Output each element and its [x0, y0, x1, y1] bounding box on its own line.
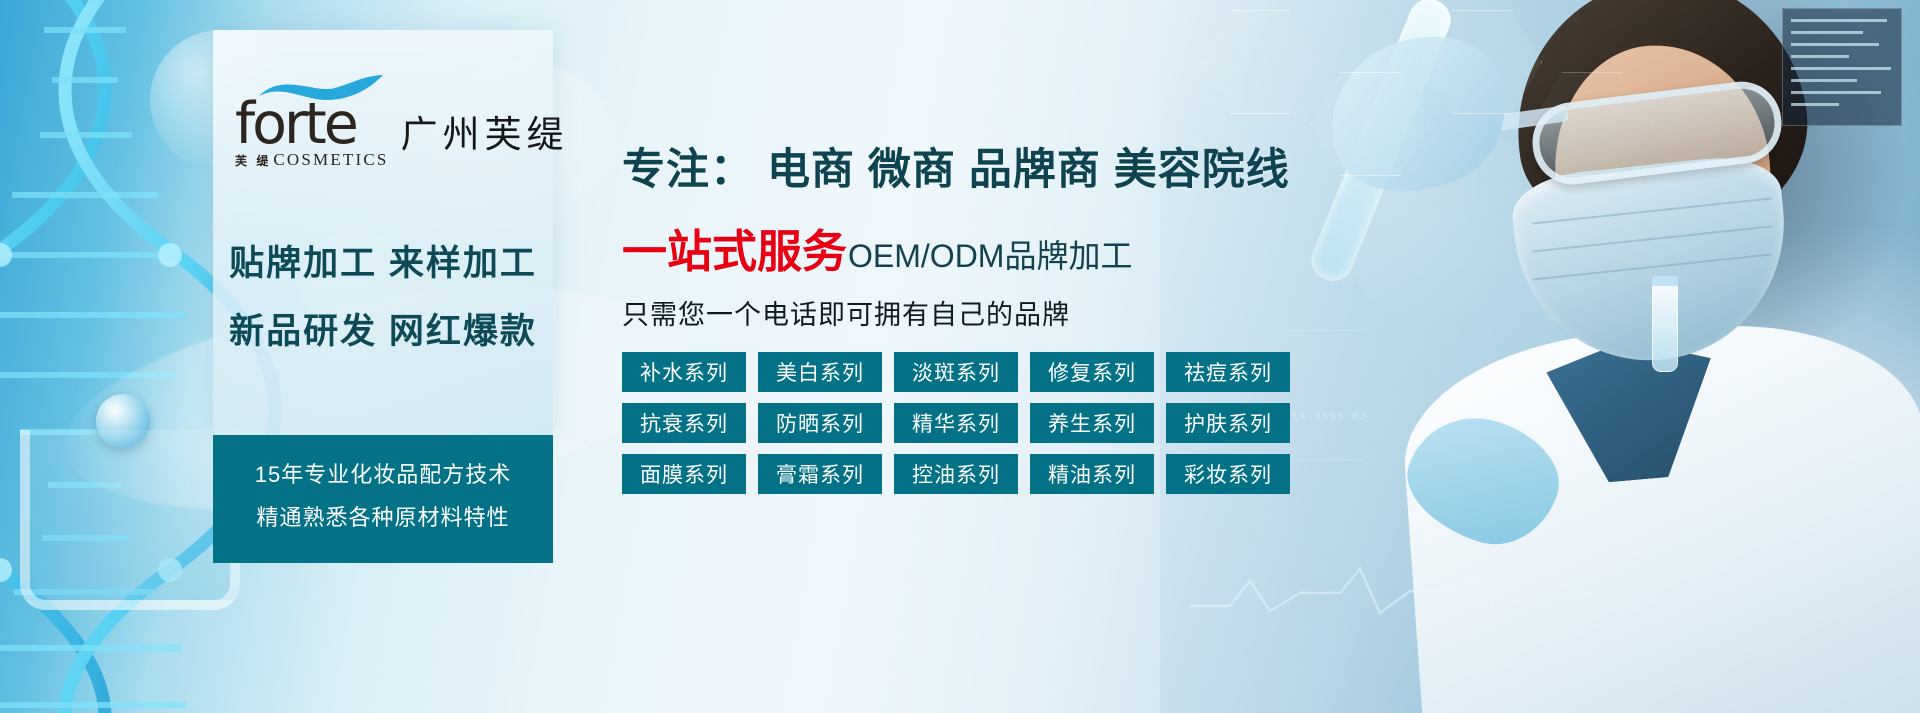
tag-item[interactable]: 抗衰系列 — [622, 403, 746, 443]
credential-line-2: 精通熟悉各种原材料特性 — [213, 500, 553, 532]
forte-wordmark: forte — [235, 100, 389, 148]
hexagon-grid-icon — [1532, 72, 1652, 176]
wave-swoosh-icon — [257, 74, 387, 104]
ekg-line-icon — [1190, 561, 1590, 621]
credential-line-1: 15年专业化妆品配方技术 — [213, 457, 553, 489]
highlight-red-text: 一站式服务 — [622, 215, 847, 280]
hexagon-grid-icon — [1310, 72, 1430, 176]
code-panel — [1782, 8, 1902, 126]
tag-item[interactable]: 祛痘系列 — [1166, 352, 1290, 392]
logo-sub-cn: 芙 缇 — [235, 152, 271, 169]
highlight-oem-text: OEM/ODM品牌加工 — [848, 231, 1132, 277]
tag-item[interactable]: 精华系列 — [894, 403, 1018, 443]
logo-lockup: forte 芙 缇 COSMETICS 广州芙缇 — [235, 100, 535, 170]
vial-icon — [1652, 282, 1678, 372]
service-line-2: 新品研发 网红爆款 — [213, 303, 553, 354]
main-headline: 专注： 电商 微商 品牌商 美容院线 — [622, 135, 1290, 197]
droplet-icon — [96, 394, 150, 448]
tag-item[interactable]: 膏霜系列 — [758, 454, 882, 494]
hexagon-grid-icon — [1200, 10, 1320, 114]
product-series-tag-grid: 补水系列 美白系列 淡斑系列 修复系列 祛痘系列 抗衰系列 防晒系列 精华系列 … — [622, 352, 1290, 494]
bokeh-circle — [1340, 120, 1550, 330]
gloved-hand-icon — [1306, 12, 1529, 219]
brand-card: forte 芙 缇 COSMETICS 广州芙缇 贴牌加工 来样加工 新品研发 … — [213, 30, 553, 435]
tag-item[interactable]: 彩妆系列 — [1166, 454, 1290, 494]
tag-item[interactable]: 补水系列 — [622, 352, 746, 392]
tag-item[interactable]: 精油系列 — [1030, 454, 1154, 494]
promo-banner: lab tex mummmals 3sgs 03 forte 芙 缇 COSME… — [0, 0, 1920, 713]
tag-item[interactable]: 美白系列 — [758, 352, 882, 392]
service-highlight: 一站式服务 OEM/ODM品牌加工 — [622, 215, 1132, 280]
service-line-1: 贴牌加工 来样加工 — [213, 235, 553, 286]
tag-item[interactable]: 养生系列 — [1030, 403, 1154, 443]
tag-item[interactable]: 护肤系列 — [1166, 403, 1290, 443]
forte-logo: forte 芙 缇 COSMETICS — [235, 100, 389, 170]
hexagon-grid-icon — [1422, 10, 1542, 114]
brand-name-cn: 广州芙缇 — [401, 104, 569, 170]
gloved-hand-icon — [1393, 400, 1573, 560]
tag-item[interactable]: 修复系列 — [1030, 352, 1154, 392]
tag-item[interactable]: 淡斑系列 — [894, 352, 1018, 392]
test-tube-icon — [1305, 0, 1456, 287]
beaker-icon — [20, 430, 240, 610]
credentials-box: 15年专业化妆品配方技术 精通熟悉各种原材料特性 — [213, 435, 553, 563]
tag-item[interactable]: 控油系列 — [894, 454, 1018, 494]
tag-item[interactable]: 防晒系列 — [758, 403, 882, 443]
call-to-action-text: 只需您一个电话即可拥有自己的品牌 — [622, 293, 1070, 332]
tag-item[interactable]: 面膜系列 — [622, 454, 746, 494]
logo-sub-en: COSMETICS — [273, 150, 388, 170]
